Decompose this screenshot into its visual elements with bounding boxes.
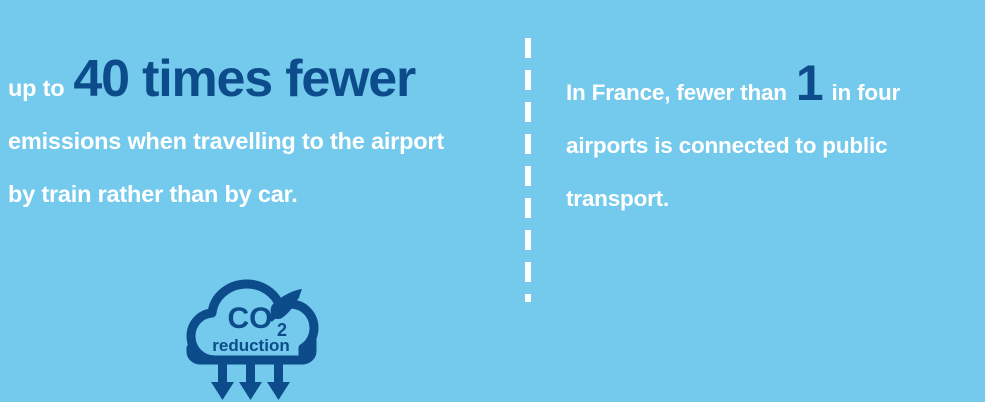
- left-body-line-1: emissions when travelling to the airport: [8, 128, 444, 154]
- right-prefix-label: In France, fewer than: [566, 80, 787, 105]
- panel-left: up to40 times fewer emissions when trave…: [0, 0, 510, 402]
- arrow-head-3: [267, 382, 290, 400]
- co2-reduction-cloud-icon: CO 2 reduction: [178, 268, 326, 402]
- left-highlight-value: 40 times fewer: [64, 50, 424, 108]
- arrow-head-1: [211, 382, 234, 400]
- right-statistic-text: In France, fewer than1in four airports i…: [566, 66, 985, 225]
- left-statistic-text: up to40 times fewer emissions when trave…: [8, 62, 508, 221]
- co2-label-secondary: reduction: [212, 336, 289, 355]
- right-body-line-1: airports is connected to public: [566, 133, 887, 158]
- left-body-line-2: by train rather than by car.: [8, 181, 298, 207]
- panel-right: In France, fewer than1in four airports i…: [556, 0, 985, 402]
- right-body-line-2: transport.: [566, 186, 669, 211]
- left-prefix-label: up to: [8, 75, 64, 101]
- infographic-root: up to40 times fewer emissions when trave…: [0, 0, 985, 402]
- panel-divider: [525, 38, 531, 302]
- co2-label-main: CO: [228, 302, 273, 335]
- downward-arrows-group: [211, 364, 290, 400]
- right-highlight-value: 1: [787, 55, 832, 111]
- right-suffix-label: in four: [831, 80, 900, 105]
- arrow-head-2: [239, 382, 262, 400]
